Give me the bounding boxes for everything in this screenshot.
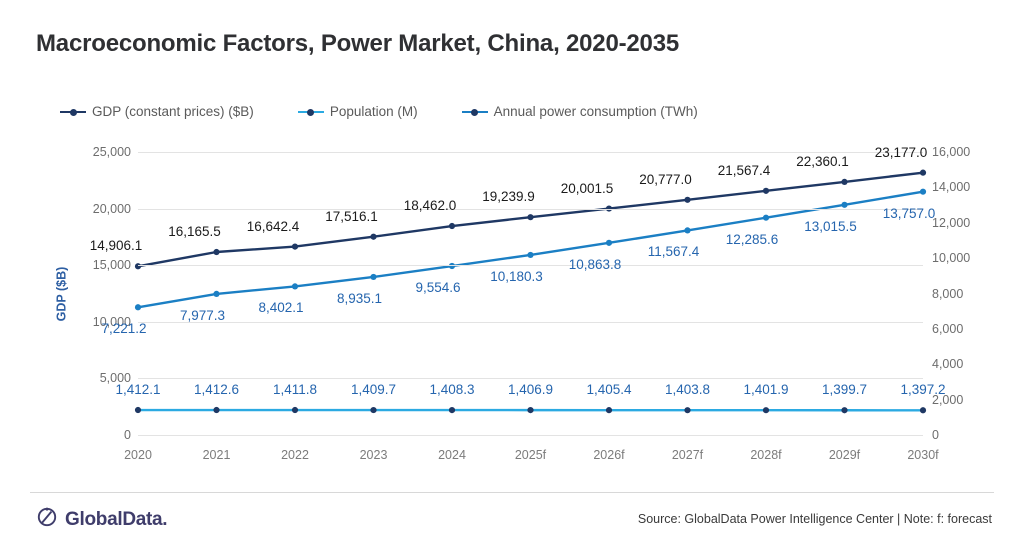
y-axis-tick-right: 0: [932, 428, 1002, 442]
data-point-marker: [606, 240, 612, 246]
data-label: 19,239.9: [482, 189, 535, 204]
data-label: 17,516.1: [325, 209, 378, 224]
data-label: 20,777.0: [639, 172, 692, 187]
globaldata-logo: GlobalData.: [36, 506, 167, 533]
data-label: 12,285.6: [726, 232, 779, 247]
data-point-marker: [370, 274, 376, 280]
gridline: [138, 265, 923, 266]
footer-divider: [30, 492, 994, 493]
x-axis-tick: 2021: [203, 448, 231, 462]
data-point-marker: [135, 263, 141, 269]
data-point-marker: [292, 244, 298, 250]
data-label: 1,399.7: [822, 382, 867, 397]
data-point-marker: [135, 407, 141, 413]
data-point-marker: [763, 407, 769, 413]
data-point-marker: [449, 407, 455, 413]
y-axis-tick-right: 10,000: [932, 251, 1002, 265]
data-label: 18,462.0: [404, 198, 457, 213]
logo-text: GlobalData.: [65, 509, 167, 531]
data-point-marker: [684, 407, 690, 413]
data-label: 22,360.1: [796, 154, 849, 169]
data-label: 11,567.4: [648, 244, 700, 259]
data-label: 23,177.0: [875, 145, 928, 160]
data-point-marker: [841, 202, 847, 208]
y-axis-tick-right: 8,000: [932, 287, 1002, 301]
gridline: [138, 209, 923, 210]
x-axis-tick: 2020: [124, 448, 152, 462]
y-axis-tick-right: 4,000: [932, 357, 1002, 371]
data-label: 9,554.6: [415, 280, 460, 295]
data-label: 7,977.3: [180, 308, 225, 323]
data-label: 7,221.2: [101, 321, 146, 336]
data-label: 16,642.4: [247, 219, 300, 234]
y-axis-tick-left: 25,000: [61, 145, 131, 159]
data-label: 13,757.0: [883, 206, 936, 221]
data-point-marker: [292, 283, 298, 289]
legend-item[interactable]: Population (M): [298, 104, 418, 119]
gridline: [138, 378, 923, 379]
data-label: 1,401.9: [743, 382, 788, 397]
x-axis-tick: 2029f: [829, 448, 860, 462]
data-label: 20,001.5: [561, 181, 614, 196]
data-point-marker: [370, 234, 376, 240]
data-point-marker: [684, 197, 690, 203]
legend-label: Annual power consumption (TWh): [494, 104, 698, 119]
legend-label: GDP (constant prices) ($B): [92, 104, 254, 119]
x-axis-tick: 2023: [360, 448, 388, 462]
legend-marker-icon: [298, 107, 324, 117]
data-label: 1,412.6: [194, 382, 239, 397]
source-note: Source: GlobalData Power Intelligence Ce…: [638, 512, 992, 526]
globaldata-circle-slash-icon: [36, 506, 58, 533]
data-point-marker: [370, 407, 376, 413]
gridline: [138, 322, 923, 323]
chart-legend: GDP (constant prices) ($B)Population (M)…: [60, 104, 698, 119]
data-point-marker: [213, 407, 219, 413]
legend-item[interactable]: GDP (constant prices) ($B): [60, 104, 254, 119]
data-label: 1,405.4: [586, 382, 631, 397]
data-point-marker: [606, 407, 612, 413]
data-point-marker: [920, 189, 926, 195]
gridline: [138, 435, 923, 436]
y-axis-tick-left: 15,000: [61, 258, 131, 272]
data-label: 1,411.8: [273, 382, 317, 397]
data-label: 8,402.1: [258, 300, 303, 315]
legend-item[interactable]: Annual power consumption (TWh): [462, 104, 698, 119]
data-label: 8,935.1: [337, 291, 382, 306]
x-axis-tick: 2027f: [672, 448, 703, 462]
y-axis-tick-right: 12,000: [932, 216, 1002, 230]
data-label: 1,406.9: [508, 382, 553, 397]
data-label: 1,397.2: [900, 382, 945, 397]
page-title: Macroeconomic Factors, Power Market, Chi…: [36, 30, 679, 58]
y-axis-tick-right: 14,000: [932, 180, 1002, 194]
x-axis-tick: 2026f: [593, 448, 624, 462]
data-point-marker: [527, 252, 533, 258]
data-point-marker: [449, 223, 455, 229]
data-label: 1,408.3: [429, 382, 474, 397]
data-point-marker: [841, 407, 847, 413]
x-axis-labels: 202020212022202320242025f2026f2027f2028f…: [138, 448, 923, 470]
data-point-marker: [527, 407, 533, 413]
data-label: 1,409.7: [351, 382, 396, 397]
data-point-marker: [841, 179, 847, 185]
data-point-marker: [684, 227, 690, 233]
plot-area: GDP ($B) Population (M) & Power Consumpt…: [138, 152, 923, 435]
data-point-marker: [213, 291, 219, 297]
data-label: 10,863.8: [569, 257, 622, 272]
y-axis-tick-right: 6,000: [932, 322, 1002, 336]
x-axis-tick: 2022: [281, 448, 309, 462]
legend-marker-icon: [462, 107, 488, 117]
y-axis-tick-left: 0: [61, 428, 131, 442]
x-axis-tick: 2028f: [750, 448, 781, 462]
x-axis-tick: 2025f: [515, 448, 546, 462]
data-label: 1,412.1: [115, 382, 160, 397]
gridline: [138, 152, 923, 153]
data-label: 16,165.5: [168, 224, 221, 239]
data-point-marker: [135, 304, 141, 310]
data-label: 1,403.8: [665, 382, 710, 397]
data-label: 10,180.3: [490, 269, 543, 284]
y-axis-title-left: GDP ($B): [54, 266, 68, 321]
data-point-marker: [920, 170, 926, 176]
data-point-marker: [763, 215, 769, 221]
data-label: 13,015.5: [804, 219, 857, 234]
x-axis-tick: 2030f: [907, 448, 938, 462]
x-axis-tick: 2024: [438, 448, 466, 462]
data-label: 21,567.4: [718, 163, 771, 178]
data-point-marker: [527, 214, 533, 220]
data-label: 14,906.1: [90, 238, 143, 253]
y-axis-tick-right: 16,000: [932, 145, 1002, 159]
data-point-marker: [763, 188, 769, 194]
data-point-marker: [292, 407, 298, 413]
data-point-marker: [920, 407, 926, 413]
legend-marker-icon: [60, 107, 86, 117]
data-point-marker: [213, 249, 219, 255]
y-axis-tick-left: 20,000: [61, 202, 131, 216]
legend-label: Population (M): [330, 104, 418, 119]
chart-container: Macroeconomic Factors, Power Market, Chi…: [0, 0, 1024, 549]
